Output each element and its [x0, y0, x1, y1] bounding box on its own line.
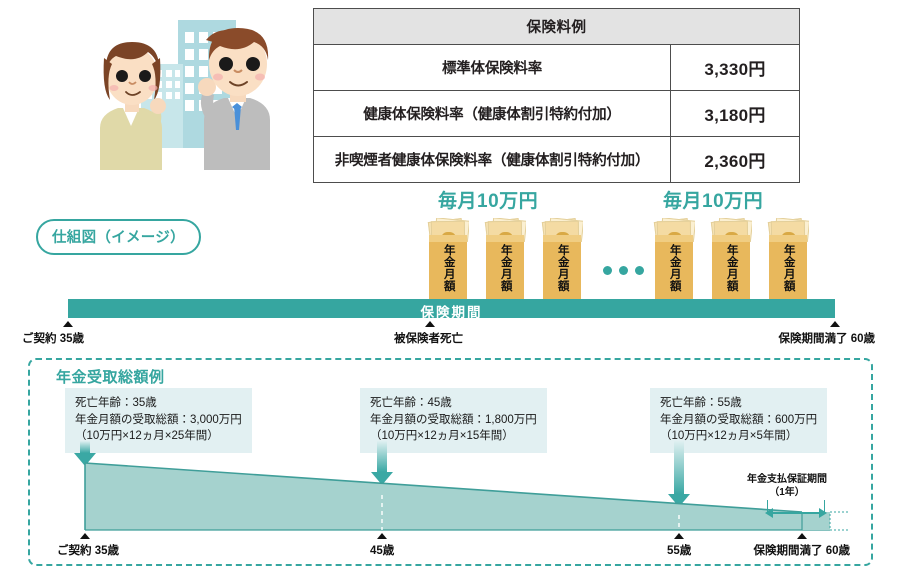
envelope-label: 年金月額: [486, 244, 524, 304]
annuity-envelope: 年金月額: [429, 218, 467, 306]
illustration-svg: [78, 2, 293, 172]
insurance-period-label: 保険期間: [421, 301, 483, 321]
guarantee-line1: 年金支払保証期間: [742, 474, 832, 487]
ellipsis-dot: [603, 266, 612, 275]
premium-value-standard: 3,330円: [671, 45, 800, 91]
callout-breakdown: （10万円×12ヵ月×15年間）: [370, 428, 537, 445]
guarantee-arrow-head-left: [765, 508, 773, 518]
premium-example-table: 保険料例 標準体保険料率 3,330円 健康体保険料率（健康体割引特約付加） 3…: [313, 8, 800, 183]
envelope-label: 年金月額: [712, 244, 750, 304]
timeline-tick: [63, 321, 73, 327]
premium-label-healthy: 健康体保険料率（健康体割引特約付加）: [314, 91, 671, 137]
chart-axis-tick: [797, 533, 807, 539]
table-row: 健康体保険料率（健康体割引特約付加） 3,180円: [314, 91, 800, 137]
envelope-label: 年金月額: [769, 244, 807, 304]
callout-total: 年金月額の受取総額：600万円: [660, 412, 817, 429]
guarantee-span-arrow: [770, 512, 822, 514]
callout-total: 年金月額の受取総額：1,800万円: [370, 412, 537, 429]
callout-breakdown: （10万円×12ヵ月×25年間）: [75, 428, 242, 445]
envelope-lip: [543, 235, 581, 242]
chart-area-fill: [85, 463, 802, 530]
guarantee-line2: （1年）: [742, 487, 832, 500]
chart-axis-tick: [674, 533, 684, 539]
schema-diagram-pill: 仕組図（イメージ）: [36, 219, 201, 255]
timeline-tick: [830, 321, 840, 327]
table-row: 標準体保険料率 3,330円: [314, 45, 800, 91]
guarantee-dotted-box: [830, 512, 850, 530]
annuity-envelope: 年金月額: [655, 218, 693, 306]
envelope-label: 年金月額: [429, 244, 467, 304]
envelope-label: 年金月額: [543, 244, 581, 304]
chart-axis-tick: [377, 533, 387, 539]
premium-label-nonsmoker: 非喫煙者健康体保険料率（健康体割引特約付加）: [314, 137, 671, 183]
callout-death-age: 死亡年齢：55歳: [660, 395, 817, 412]
envelope-lip: [769, 235, 807, 242]
timeline-marker-label: 被保険者死亡: [394, 330, 463, 346]
envelope-label: 年金月額: [655, 244, 693, 304]
premium-value-nonsmoker: 2,360円: [671, 137, 800, 183]
annuity-envelope: 年金月額: [712, 218, 750, 306]
table-row: 非喫煙者健康体保険料率（健康体割引特約付加） 2,360円: [314, 137, 800, 183]
guarantee-period-label: 年金支払保証期間 （1年）: [742, 474, 832, 499]
monthly-amount-label-right: 毎月10万円: [663, 186, 763, 213]
annuity-area-chart: [60, 455, 850, 545]
envelope-lip: [486, 235, 524, 242]
premium-label-standard: 標準体保険料率: [314, 45, 671, 91]
chart-axis-label: 45歳: [370, 542, 394, 558]
callout-death-age: 死亡年齢：45歳: [370, 395, 537, 412]
table-header-cell: 保険料例: [314, 9, 800, 45]
annuity-envelope: 年金月額: [769, 218, 807, 306]
annuity-envelope: 年金月額: [543, 218, 581, 306]
chart-axis-label: 保険期間満了 60歳: [754, 542, 851, 558]
ellipsis-dot: [635, 266, 644, 275]
ellipsis-dot: [619, 266, 628, 275]
business-couple-illustration: [78, 2, 293, 172]
timeline-marker-label: ご契約 35歳: [22, 330, 84, 346]
callout-death-age: 死亡年齢：35歳: [75, 395, 242, 412]
chart-axis-label: ご契約 35歳: [57, 542, 119, 558]
woman-figure: [100, 42, 166, 170]
envelope-lip: [712, 235, 750, 242]
annuity-panel-title: 年金受取総額例: [56, 366, 165, 387]
chart-axis-tick: [80, 533, 90, 539]
annuity-envelope: 年金月額: [486, 218, 524, 306]
table-header-row: 保険料例: [314, 9, 800, 45]
timeline-marker-label: 保険期間満了 60歳: [779, 330, 876, 346]
monthly-amount-label-left: 毎月10万円: [438, 186, 538, 213]
guarantee-arrow-head-right: [819, 508, 827, 518]
area-chart-svg: [60, 455, 850, 545]
chart-axis-label: 55歳: [667, 542, 691, 558]
callout-total: 年金月額の受取総額：3,000万円: [75, 412, 242, 429]
premium-value-healthy: 3,180円: [671, 91, 800, 137]
envelope-lip: [429, 235, 467, 242]
timeline-tick: [425, 321, 435, 327]
insurance-period-bar: 保険期間: [68, 299, 835, 318]
envelope-lip: [655, 235, 693, 242]
